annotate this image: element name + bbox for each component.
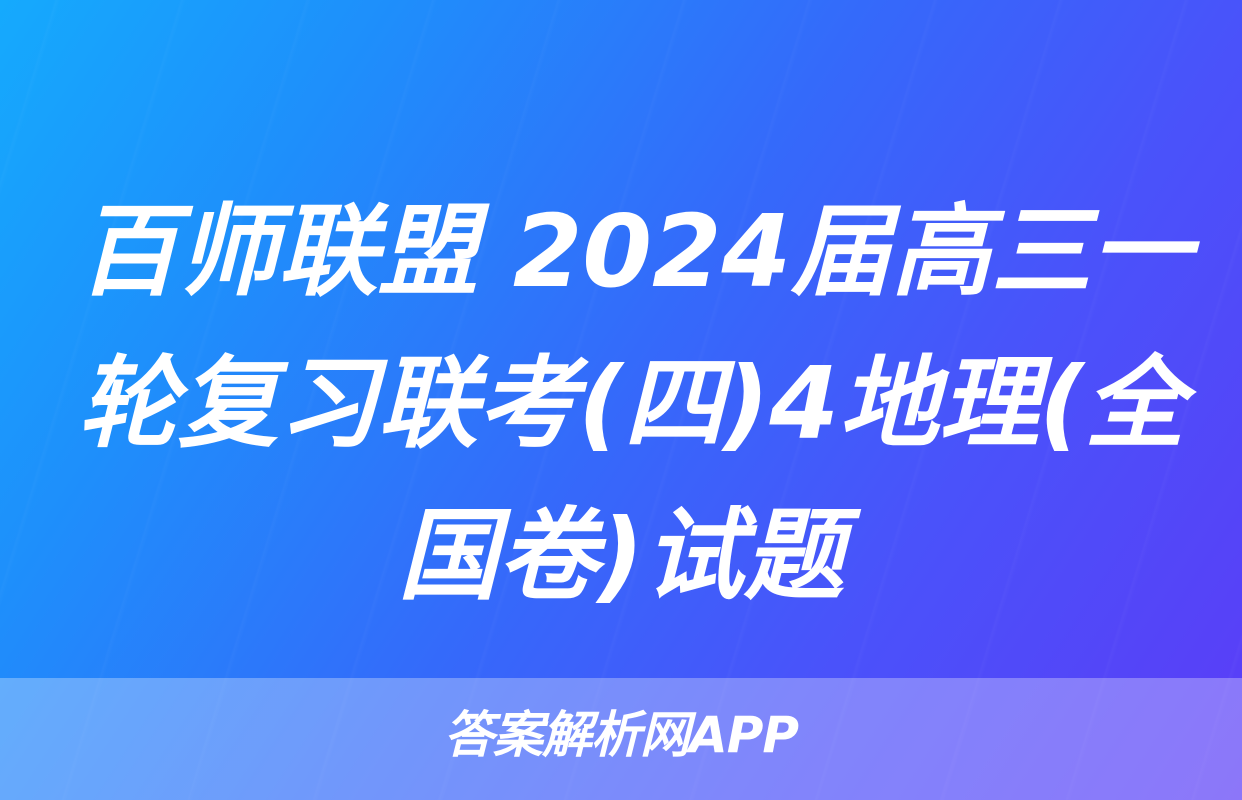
title-line-2: 轮复习联考(四)4地理(全 xyxy=(78,328,1164,480)
page-title: 百师联盟 2024届高三一 轮复习联考(四)4地理(全 国卷)试题 xyxy=(0,176,1242,632)
title-line-3: 国卷)试题 xyxy=(78,480,1164,632)
watermark-brand-label: 答案解析网APP xyxy=(0,704,1242,766)
cover-card: 百师联盟 2024届高三一 轮复习联考(四)4地理(全 国卷)试题 答案解析网A… xyxy=(0,0,1242,800)
title-line-1: 百师联盟 2024届高三一 xyxy=(78,176,1164,328)
